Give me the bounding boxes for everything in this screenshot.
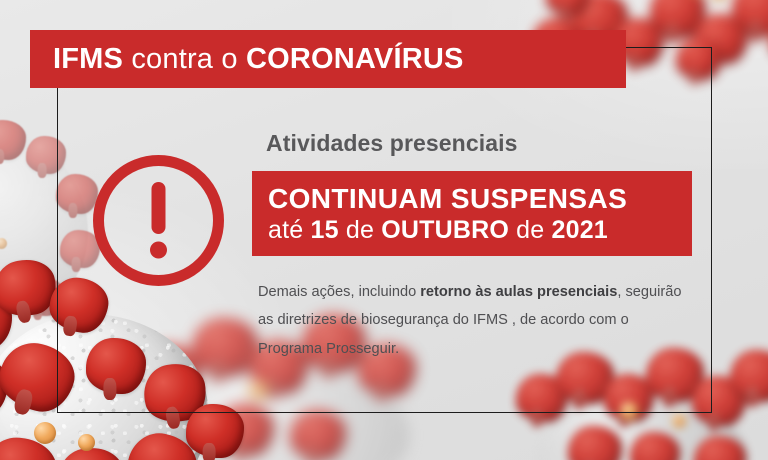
highlight-box: CONTINUAM SUSPENSAS até 15 de OUTUBRO de… — [252, 171, 692, 256]
subtitle-text: Atividades presenciais — [266, 130, 696, 157]
body-paragraph: Demais ações, incluindo retorno às aulas… — [258, 278, 694, 363]
header-banner-title-strong-suffix: CORONAVÍRUS — [246, 43, 464, 75]
highlight-line-date: até 15 de OUTUBRO de 2021 — [268, 216, 676, 244]
content-column: Atividades presenciais CONTINUAM SUSPENS… — [252, 130, 696, 363]
highlight-date-day: 15 — [311, 216, 339, 244]
highlight-line-primary: CONTINUAM SUSPENSAS — [268, 184, 676, 214]
header-banner-title-strong-prefix: IFMS — [53, 43, 123, 75]
exclamation-circle-icon — [90, 152, 227, 289]
body-paragraph-emphasis: retorno às aulas presenciais — [420, 284, 617, 300]
highlight-date-year: 2021 — [552, 216, 608, 244]
highlight-date-sep-2: de — [509, 216, 552, 244]
highlight-date-prefix: até — [268, 216, 311, 244]
covid-announcement-poster: IFMS contra o CORONAVÍRUS Atividades pre… — [0, 0, 768, 460]
header-banner-title-light: contra o — [123, 43, 246, 75]
highlight-date-sep-1: de — [339, 216, 382, 244]
header-banner-title: IFMS contra o CORONAVÍRUS — [53, 45, 464, 74]
header-banner: IFMS contra o CORONAVÍRUS — [30, 30, 626, 88]
highlight-date-month: OUTUBRO — [381, 216, 509, 244]
body-paragraph-part-1: Demais ações, incluindo — [258, 284, 420, 300]
